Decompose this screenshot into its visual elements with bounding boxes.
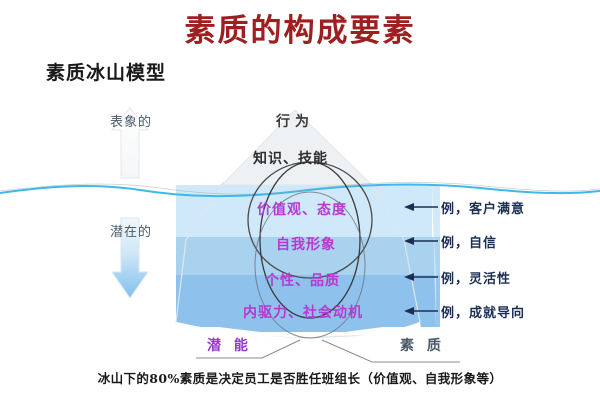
iceberg-diagram: 表象的 潜在的 行为 知识、技能 价值观、态度 自我形象 个性、品质 内驱力、社… [0,90,600,365]
label-self-image: 自我形象 [276,234,336,254]
base-label-competency: 素 质 [400,335,445,355]
iceberg-graphic [0,90,600,365]
annotation-achievement-orientation: 例，成就导向 [441,302,525,321]
slide-canvas: 素质的构成要素 素质冰山模型 [0,0,600,401]
footnote-text: 冰山下的80%素质是决定员工是否胜任班组长（价值观、自我形象等） [0,368,600,387]
label-knowledge-skills: 知识、技能 [253,148,328,168]
annotation-customer-satisfaction: 例，客户满意 [441,198,525,217]
section-subtitle: 素质冰山模型 [46,58,166,85]
page-title: 素质的构成要素 [0,5,600,50]
label-values-attitude: 价值观、态度 [257,199,347,219]
annotation-self-confidence: 例，自信 [441,232,497,251]
arrow-up-label: 表象的 [110,115,150,131]
label-personality-traits: 个性、品质 [265,270,340,290]
label-behavior: 行为 [276,111,314,131]
label-motives-social-drive: 内驱力、社会动机 [243,302,363,322]
base-label-potential: 潜 能 [207,335,252,355]
annotation-flexibility: 例，灵活性 [441,268,511,287]
arrow-down-label: 潜在的 [110,225,150,241]
